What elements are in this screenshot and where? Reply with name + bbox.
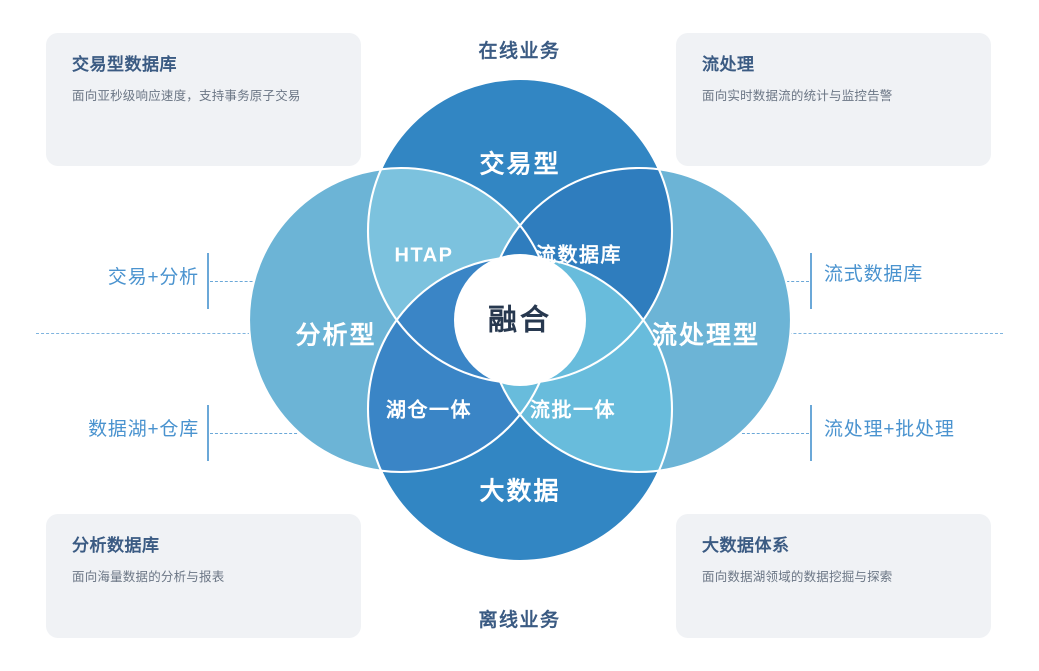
side-label-transaction-plus-analytics: 交易+分析	[108, 262, 199, 289]
venn-label-lakehouse: 湖仓一体	[386, 397, 472, 421]
tick-bar-top-left	[207, 253, 209, 309]
venn-diagram: 交易型 分析型 流处理型 大数据 HTAP 流数据库 湖仓一体 流批一体 融合	[249, 79, 791, 561]
venn-label-bigdata: 大数据	[479, 478, 560, 506]
venn-label-transactional: 交易型	[479, 150, 560, 179]
venn-label-core-fusion: 融合	[488, 304, 552, 337]
side-label-datalake-plus-warehouse: 数据湖+仓库	[88, 414, 199, 441]
diagram-canvas: 交易型数据库 面向亚秒级响应速度，支持事务原子交易 流处理 面向实时数据流的统计…	[0, 0, 1039, 671]
card-description: 面向海量数据的分析与报表	[72, 566, 335, 589]
venn-label-streaming: 流处理型	[652, 322, 760, 350]
tick-bar-bottom-left	[207, 405, 209, 461]
venn-label-stream-db: 流数据库	[536, 242, 622, 266]
tick-bar-bottom-right	[810, 405, 812, 461]
caption-offline-business: 离线业务	[0, 605, 1039, 632]
caption-online-business: 在线业务	[0, 36, 1039, 63]
venn-label-stream-batch: 流批一体	[530, 397, 616, 421]
venn-label-analytical: 分析型	[295, 322, 376, 350]
tick-bar-top-right	[810, 253, 812, 309]
side-label-streaming-database: 流式数据库	[824, 259, 923, 286]
card-description: 面向数据湖领域的数据挖掘与探索	[702, 566, 965, 589]
side-label-stream-plus-batch: 流处理+批处理	[824, 414, 955, 441]
venn-label-htap: HTAP	[395, 244, 454, 266]
